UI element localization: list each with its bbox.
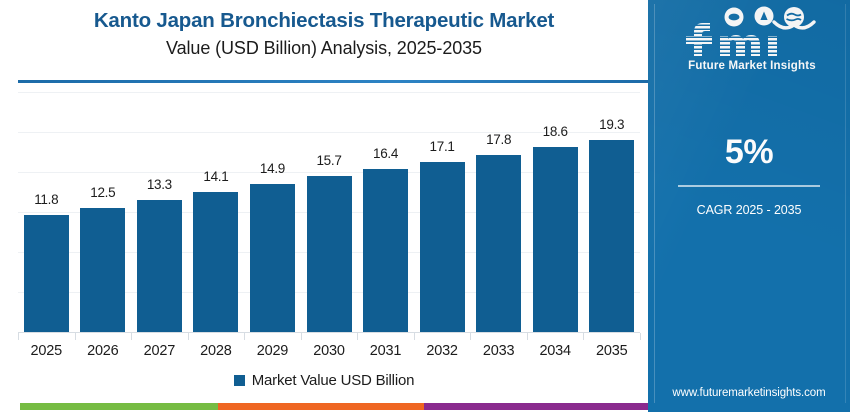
x-axis-tick [527,333,528,340]
x-axis-tick [131,333,132,340]
bar-value-label: 12.5 [73,185,133,200]
x-axis-line [18,332,640,333]
chart-screenshot: Kanto Japan Bronchiectasis Therapeutic M… [0,0,850,412]
chart-legend: Market Value USD Billion [0,372,648,390]
page-title: Kanto Japan Bronchiectasis Therapeutic M… [0,9,648,33]
bar[interactable] [250,184,295,333]
cagr-value: 5% [648,133,850,172]
footer-stripe-green [20,403,218,410]
x-axis-label: 2030 [299,343,359,359]
x-axis-label: 2035 [582,343,642,359]
bar[interactable] [420,162,465,333]
x-axis-tick [75,333,76,340]
x-axis-tick [244,333,245,340]
header-divider [18,80,648,83]
x-axis-label: 2028 [186,343,246,359]
chart-panel: Kanto Japan Bronchiectasis Therapeutic M… [0,0,648,412]
x-axis-tick [301,333,302,340]
cagr-caption: CAGR 2025 - 2035 [648,203,850,217]
bar[interactable] [363,169,408,333]
x-axis-tick [357,333,358,340]
fmi-logo-mark [672,6,832,62]
bar[interactable] [80,208,125,333]
x-axis-label: 2034 [525,343,585,359]
gridline [18,92,640,93]
bar-value-label: 13.3 [129,177,189,192]
page-subtitle: Value (USD Billion) Analysis, 2025-2035 [0,38,648,59]
bar[interactable] [137,200,182,333]
fmi-logo: Future Market Insights [672,6,832,78]
legend-label: Market Value USD Billion [252,372,415,389]
bar[interactable] [589,140,634,333]
brand-website-url: www.futuremarketinsights.com [648,387,850,399]
fmi-tagline: Future Market Insights [672,60,832,72]
bar-value-label: 15.7 [299,153,359,168]
cagr-divider [678,185,820,187]
x-axis-label: 2027 [129,343,189,359]
bar[interactable] [193,192,238,333]
bar-value-label: 19.3 [582,117,642,132]
bar-value-label: 16.4 [356,146,416,161]
bar-value-label: 11.8 [16,192,76,207]
x-axis-tick [470,333,471,340]
chart-header: Kanto Japan Bronchiectasis Therapeutic M… [0,0,648,78]
footer-stripe [0,403,850,410]
x-axis-label: 2025 [16,343,76,359]
x-axis-label: 2031 [356,343,416,359]
bar[interactable] [476,155,521,333]
legend-swatch-icon [234,375,245,386]
bar[interactable] [533,147,578,333]
x-axis-tick [583,333,584,340]
bar-value-label: 17.8 [469,132,529,147]
x-axis-label: 2026 [73,343,133,359]
x-axis-tick [640,333,641,340]
x-axis-label: 2032 [412,343,472,359]
bar-value-label: 18.6 [525,124,585,139]
footer-stripe-orange [218,403,424,410]
x-axis-tick [18,333,19,340]
bar-value-label: 17.1 [412,139,472,154]
x-axis-label: 2033 [469,343,529,359]
bar-value-label: 14.9 [242,161,302,176]
brand-panel: Future Market Insights 5% CAGR 2025 - 20… [648,0,850,412]
bar[interactable] [307,176,352,333]
x-axis-label: 2029 [242,343,302,359]
footer-stripe-purple [424,403,648,410]
x-axis-tick [414,333,415,340]
footer-stripe-blue [648,403,850,410]
bar[interactable] [24,215,69,333]
x-axis-tick [188,333,189,340]
bar-value-label: 14.1 [186,169,246,184]
